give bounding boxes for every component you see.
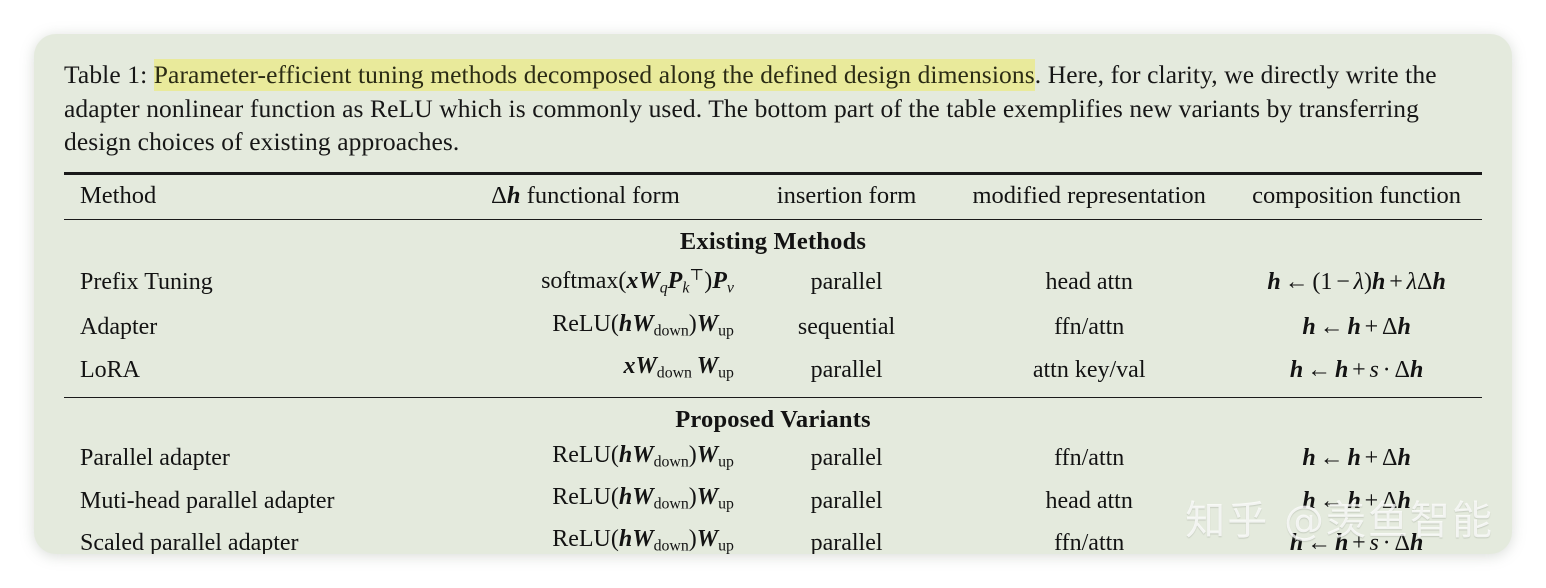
- page-root: Table 1: Parameter-efficient tuning meth…: [0, 0, 1546, 588]
- cell-functional-form: softmax(xWqPk⊤)Pv: [425, 259, 746, 307]
- cell-modified-representation: head attn: [947, 479, 1231, 521]
- section-title-label: Proposed Variants: [64, 398, 1482, 437]
- cell-insertion-form: sequential: [746, 306, 947, 348]
- column-header-insertion-form: insertion form: [746, 175, 947, 220]
- cell-composition-function: h←(1−λ)h+λΔh: [1231, 259, 1482, 307]
- cell-insertion-form: parallel: [746, 479, 947, 521]
- cell-modified-representation: ffn/attn: [947, 437, 1231, 479]
- table-row: Prefix Tuning softmax(xWqPk⊤)Pv parallel…: [64, 259, 1482, 307]
- table-figure-card: Table 1: Parameter-efficient tuning meth…: [34, 34, 1512, 554]
- column-header-modified-representation: modified representation: [947, 175, 1231, 220]
- table-row: Muti-head parallel adapter ReLU(hWdown)W…: [64, 479, 1482, 521]
- cell-composition-function: h←h+Δh: [1231, 437, 1482, 479]
- cell-method: Muti-head parallel adapter: [64, 479, 425, 521]
- cell-method: Prefix Tuning: [64, 259, 425, 307]
- cell-functional-form: ReLU(hWdown)Wup: [425, 522, 746, 554]
- cell-insertion-form: parallel: [746, 522, 947, 554]
- caption-highlighted-text: Parameter-efficient tuning methods decom…: [154, 59, 1035, 91]
- column-header-functional-form: Δh functional form: [425, 175, 746, 220]
- cell-method: LoRA: [64, 349, 425, 391]
- cell-method: Adapter: [64, 306, 425, 348]
- cell-composition-function: h←h+Δh: [1231, 306, 1482, 348]
- cell-modified-representation: ffn/attn: [947, 522, 1231, 554]
- column-header-composition-function: composition function: [1231, 175, 1482, 220]
- table-header-row: Method Δh functional form insertion form…: [64, 175, 1482, 220]
- section-title-label: Existing Methods: [64, 220, 1482, 259]
- cell-composition-function: h←h+s·Δh: [1231, 349, 1482, 391]
- table-row: LoRA xWdown Wup parallel attn key/val h←…: [64, 349, 1482, 391]
- table-row: Parallel adapter ReLU(hWdown)Wup paralle…: [64, 437, 1482, 479]
- cell-composition-function: h←h+s·Δh: [1231, 522, 1482, 554]
- section-title-proposed-variants: Proposed Variants: [64, 398, 1482, 437]
- cell-method: Parallel adapter: [64, 437, 425, 479]
- cell-modified-representation: ffn/attn: [947, 306, 1231, 348]
- parameter-efficient-tuning-table: Method Δh functional form insertion form…: [64, 172, 1482, 555]
- cell-functional-form: ReLU(hWdown)Wup: [425, 306, 746, 348]
- table-caption: Table 1: Parameter-efficient tuning meth…: [64, 58, 1486, 159]
- cell-functional-form: ReLU(hWdown)Wup: [425, 479, 746, 521]
- cell-method: Scaled parallel adapter: [64, 522, 425, 554]
- card-content: Table 1: Parameter-efficient tuning meth…: [64, 58, 1486, 554]
- cell-insertion-form: parallel: [746, 259, 947, 307]
- cell-functional-form: xWdown Wup: [425, 349, 746, 391]
- cell-insertion-form: parallel: [746, 349, 947, 391]
- column-header-method: Method: [64, 175, 425, 220]
- table-row: Scaled parallel adapter ReLU(hWdown)Wup …: [64, 522, 1482, 554]
- cell-modified-representation: head attn: [947, 259, 1231, 307]
- table-row: Adapter ReLU(hWdown)Wup sequential ffn/a…: [64, 306, 1482, 348]
- cell-functional-form: ReLU(hWdown)Wup: [425, 437, 746, 479]
- cell-composition-function: h←h+Δh: [1231, 479, 1482, 521]
- caption-label: Table 1:: [64, 60, 147, 89]
- cell-insertion-form: parallel: [746, 437, 947, 479]
- section-title-existing-methods: Existing Methods: [64, 220, 1482, 259]
- cell-modified-representation: attn key/val: [947, 349, 1231, 391]
